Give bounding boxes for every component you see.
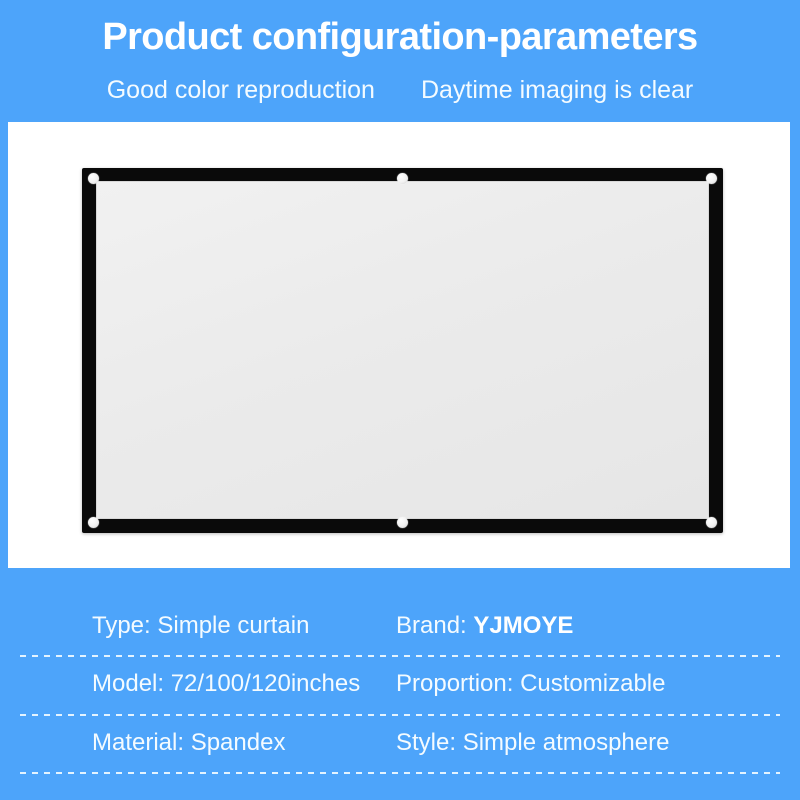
grommet-top-left-icon — [88, 173, 99, 184]
spec-label-brand: Brand: — [396, 612, 473, 639]
subtitle-row: Good color reproduction Daytime imaging … — [0, 74, 800, 106]
grommet-top-center-icon — [397, 173, 408, 184]
header: Product configuration-parameters Good co… — [0, 0, 800, 122]
subtitle-daytime-imaging-is-clear: Daytime imaging is clear — [421, 74, 693, 106]
spec-item-material: Material: Spandex — [20, 728, 372, 758]
product-image-card — [8, 122, 790, 568]
spec-item-style: Style: Simple atmosphere — [372, 728, 780, 758]
spec-value-style: Simple atmosphere — [463, 729, 670, 756]
subtitle-good-color-reproduction: Good color reproduction — [107, 74, 375, 106]
grommet-bottom-right-icon — [706, 517, 717, 528]
spec-label-proportion: Proportion: — [396, 670, 520, 697]
spec-item-type: Type: Simple curtain — [20, 611, 372, 641]
spec-value-model: 72/100/120inches — [171, 670, 361, 697]
projector-screen-surface — [96, 181, 709, 519]
spec-row: Material: Spandex Style: Simple atmosphe… — [20, 714, 780, 772]
page-title: Product configuration-parameters — [0, 12, 800, 62]
spec-label-material: Material: — [92, 729, 191, 756]
grommet-bottom-center-icon — [397, 517, 408, 528]
spec-item-model: Model: 72/100/120inches — [20, 669, 372, 699]
spec-label-type: Type: — [92, 612, 157, 639]
spec-row: Model: 72/100/120inches Proportion: Cust… — [20, 655, 780, 713]
spec-divider-3 — [20, 772, 780, 774]
spec-label-model: Model: — [92, 670, 171, 697]
product-parameters-page: Product configuration-parameters Good co… — [0, 0, 800, 800]
spec-value-brand: YJMOYE — [473, 612, 573, 639]
projector-screen-frame — [82, 168, 723, 533]
spec-value-type: Simple curtain — [157, 612, 309, 639]
spec-value-proportion: Customizable — [520, 670, 665, 697]
spec-list: Type: Simple curtain Brand: YJMOYE Model… — [0, 568, 800, 800]
grommet-bottom-left-icon — [88, 517, 99, 528]
spec-item-brand: Brand: YJMOYE — [372, 611, 780, 641]
spec-label-style: Style: — [396, 729, 463, 756]
spec-item-proportion: Proportion: Customizable — [372, 669, 780, 699]
spec-row: Type: Simple curtain Brand: YJMOYE — [20, 597, 780, 655]
spec-value-material: Spandex — [191, 729, 286, 756]
grommet-top-right-icon — [706, 173, 717, 184]
